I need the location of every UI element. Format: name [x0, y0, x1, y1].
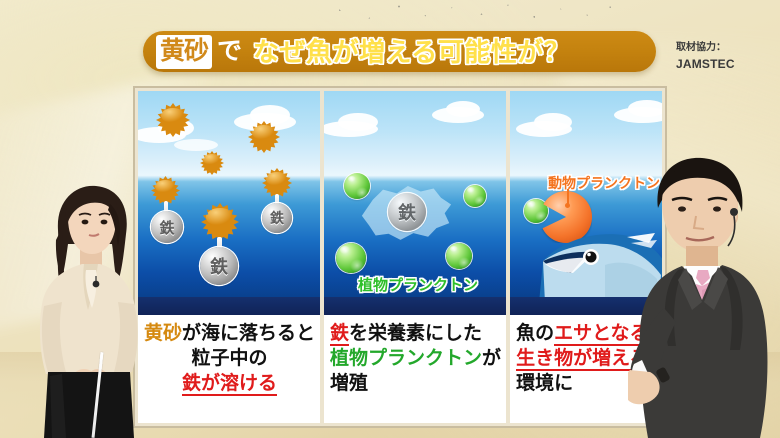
caption-line: 粒子中の [144, 346, 315, 371]
iron-ball-label: 鉄 [270, 208, 284, 228]
iron-ball-icon: 鉄 [200, 247, 238, 285]
caption-highlight: 鉄 [330, 323, 349, 346]
dust-particle-icon [201, 203, 239, 241]
caption-line: 鉄が溶ける [144, 371, 315, 396]
presenter-right [628, 150, 780, 438]
phytoplankton-icon [344, 173, 370, 199]
iron-ball-icon: 鉄 [151, 211, 183, 243]
caption-line: 黄砂が海に落ちると [144, 321, 315, 346]
caption-highlight: 植物プランクトン [330, 348, 482, 369]
caption-line: 増殖 [330, 371, 501, 396]
credit-organization: JAMSTEC [676, 56, 776, 73]
phytoplankton-icon [446, 243, 472, 269]
cloud-icon [250, 105, 290, 125]
panel-2-illustration: 鉄 植物プランクトン [324, 91, 506, 297]
cloud-icon [628, 100, 662, 117]
caption-text: を栄養素にした [349, 323, 482, 344]
cloud-icon [534, 113, 572, 131]
iron-ball-icon: 鉄 [388, 193, 426, 231]
iron-ball-label: 鉄 [210, 253, 228, 279]
panel-1-separator [138, 297, 320, 315]
phytoplankton-label: 植物プランクトン [358, 274, 478, 295]
panel-1-illustration: 鉄 鉄 鉄 [138, 91, 320, 297]
caption-text: が海に落ちると [182, 323, 315, 344]
caption-text: が [482, 348, 501, 369]
cloud-icon [338, 113, 378, 131]
cloud-icon [174, 139, 218, 151]
headline-particle: で [217, 39, 242, 64]
panel-2-separator [324, 297, 506, 315]
caption-text: 魚の [516, 323, 554, 344]
iron-ball-icon: 鉄 [262, 203, 292, 233]
panel-1-caption: 黄砂が海に落ちると 粒子中の 鉄が溶ける [138, 315, 320, 423]
iron-ball-label: 鉄 [159, 217, 174, 238]
cloud-icon [446, 101, 480, 117]
panel-1: 鉄 鉄 鉄 黄砂が海に落ちると 粒子中の 鉄が溶ける [138, 91, 320, 423]
headline-text: なぜ魚が増える可能性が？ [253, 39, 570, 65]
phytoplankton-icon [336, 243, 366, 273]
caption-text: 環境に [516, 373, 573, 394]
panel-2: 鉄 植物プランクトン 鉄を栄養素にした 植物プランクトンが 増殖 [324, 91, 506, 423]
caption-text: 粒子中の [192, 348, 268, 369]
iron-ball-label: 鉄 [398, 199, 416, 225]
phytoplankton-icon [464, 185, 486, 207]
credit-label: 取材協力： [676, 41, 776, 56]
presenter-left [22, 178, 154, 438]
headline-banner: 黄砂 で なぜ魚が増える可能性が？ [143, 31, 656, 72]
headline-keyword-chip: 黄砂 [156, 35, 212, 69]
caption-text: 増殖 [330, 373, 368, 394]
caption-highlight: 鉄が溶ける [182, 373, 277, 396]
panel-2-caption: 鉄を栄養素にした 植物プランクトンが 増殖 [324, 315, 506, 423]
infographic-board: 鉄 鉄 鉄 黄砂が海に落ちると 粒子中の 鉄が溶ける [133, 86, 667, 428]
studio-backdrop-texture [300, 0, 630, 26]
caption-line: 植物プランクトンが [330, 346, 501, 371]
dust-particle-icon [200, 151, 224, 175]
caption-line: 鉄を栄養素にした [330, 321, 501, 346]
source-credit: 取材協力： JAMSTEC [676, 41, 776, 73]
